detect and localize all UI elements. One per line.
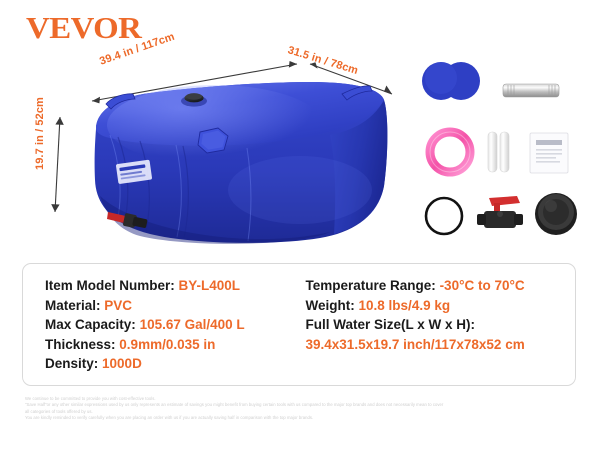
spec-value: 1000D [102,356,142,371]
instruction-manual-icon [530,133,568,173]
spec-row: Max Capacity: 105.67 Gal/400 L [45,315,298,335]
spec-label: Temperature Range: [306,278,436,293]
ball-valve-icon [477,196,523,228]
spec-row: Item Model Number: BY-L400L [45,276,298,296]
spec-value: BY-L400L [179,278,241,293]
spec-row: Temperature Range: -30°C to 70°C [306,276,575,296]
spec-column-left: Item Model Number: BY-L400L Material: PV… [23,264,298,385]
spec-value: 0.9mm/0.035 in [119,337,215,352]
spec-value: PVC [104,298,132,313]
black-screw-cap-icon [535,193,577,235]
water-bladder-tank [95,82,388,244]
spec-row: Full Water Size(L x W x H): [306,315,575,335]
spec-label: Max Capacity: [45,317,136,332]
spec-row: Density: 1000D [45,354,298,374]
white-tubes-icon [488,132,509,172]
spec-row: 39.4x31.5x19.7 inch/117x78x52 cm [306,335,575,355]
rubber-o-ring-icon [426,198,462,234]
specification-panel: Item Model Number: BY-L400L Material: PV… [22,263,576,386]
disclaimer-line: You are kindly reminded to verify carefu… [25,415,581,421]
accessories-group [422,62,577,235]
pink-thread-seal-tape-icon [430,132,470,172]
product-hero-image [0,0,600,258]
spec-label: Thickness: [45,337,116,352]
spec-value: 10.8 lbs/4.9 kg [359,298,451,313]
spec-row: Thickness: 0.9mm/0.035 in [45,335,298,355]
spec-row: Material: PVC [45,296,298,316]
spec-row: Weight: 10.8 lbs/4.9 kg [306,296,575,316]
spec-label: Density: [45,356,98,371]
spec-label: Material: [45,298,101,313]
spec-column-right: Temperature Range: -30°C to 70°C Weight:… [298,264,575,385]
spec-label: Full Water Size(L x W x H): [306,317,476,332]
blue-repair-patches-icon [422,62,480,100]
spec-value: 105.67 Gal/400 L [140,317,245,332]
dimension-label-height: 19.7 in / 52cm [34,97,46,170]
spec-value: 39.4x31.5x19.7 inch/117x78x52 cm [306,335,525,355]
spec-value: -30°C to 70°C [440,278,525,293]
disclaimer-fineprint: We continue to be committed to provide y… [25,396,581,421]
spec-label: Item Model Number: [45,278,175,293]
metal-pipe-nipple-icon [503,84,559,97]
spec-label: Weight: [306,298,355,313]
